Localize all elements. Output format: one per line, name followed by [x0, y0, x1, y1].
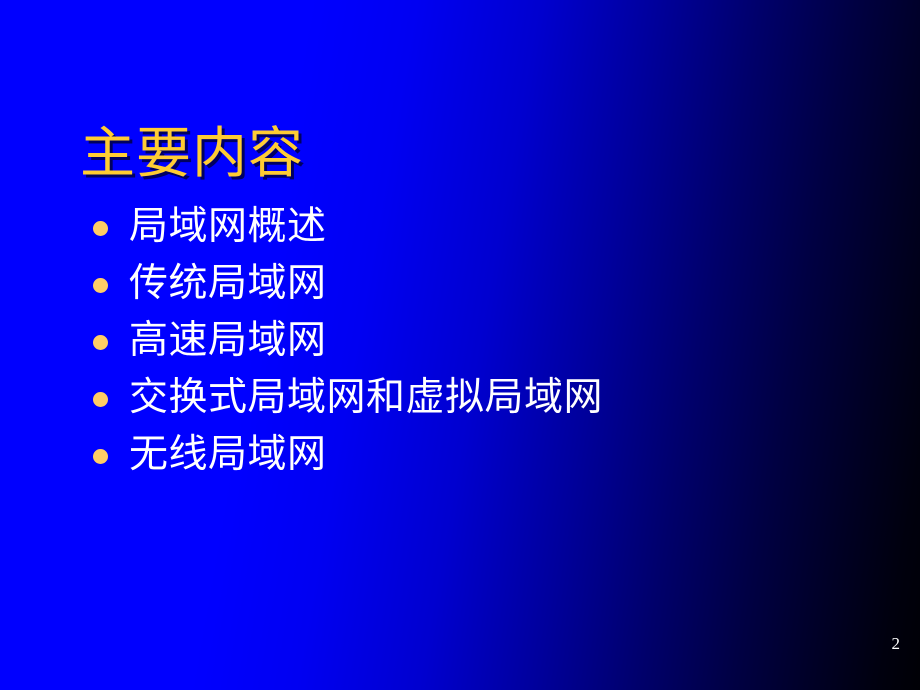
list-item[interactable]: 交换式局域网和虚拟局域网 [88, 371, 878, 428]
bullet-label: 局域网概述 [129, 207, 327, 246]
bullet-dot-icon [93, 392, 108, 407]
bullet-dot-icon [93, 449, 108, 464]
bullet-list: 局域网概述 传统局域网 高速局域网 交换式局域网和虚拟局域网 无线局域网 [88, 200, 878, 485]
list-item[interactable]: 传统局域网 [88, 257, 878, 314]
list-item[interactable]: 无线局域网 [88, 428, 878, 485]
bullet-dot-icon [93, 221, 108, 236]
bullet-label: 无线局域网 [129, 435, 327, 474]
page-number: 2 [892, 634, 901, 654]
bullet-dot-icon [93, 335, 108, 350]
slide-title: 主要内容 [80, 125, 304, 183]
bullet-label: 高速局域网 [129, 321, 327, 360]
bullet-dot-icon [93, 278, 108, 293]
list-item[interactable]: 局域网概述 [88, 200, 878, 257]
presentation-slide: 主要内容 局域网概述 传统局域网 高速局域网 交换式局域网和虚拟局域网 无线局域… [0, 0, 920, 690]
bullet-label: 传统局域网 [129, 264, 327, 303]
list-item[interactable]: 高速局域网 [88, 314, 878, 371]
bullet-label: 交换式局域网和虚拟局域网 [129, 378, 603, 417]
